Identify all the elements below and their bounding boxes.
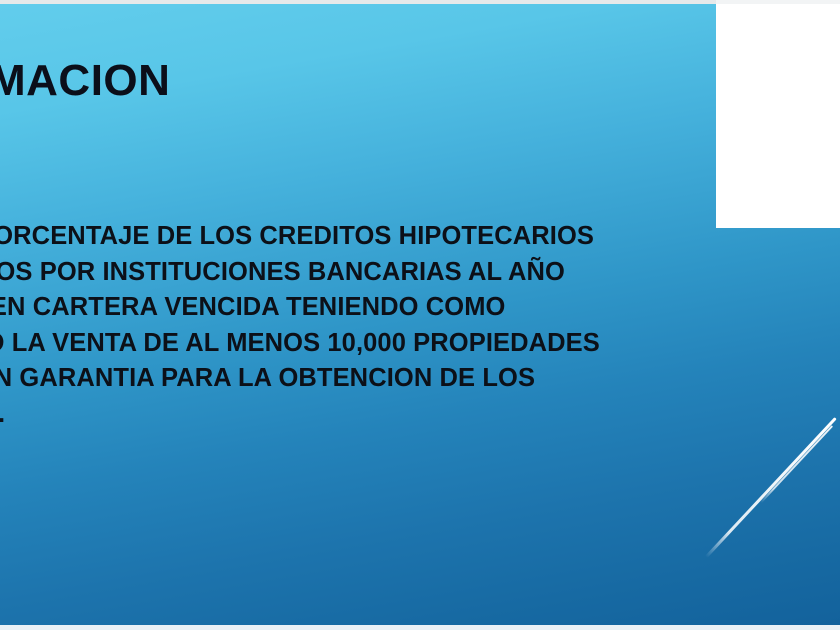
body-line: INAN EN CARTERA VENCIDA TENIENDO COMO	[0, 290, 710, 326]
body-line: LTO PORCENTAJE DE LOS CREDITOS HIPOTECAR…	[0, 219, 710, 255]
slide-body-text: LTO PORCENTAJE DE LOS CREDITOS HIPOTECAR…	[0, 219, 710, 432]
slide-bottom-edge	[0, 625, 840, 630]
logo-panel: B U Homeb	[716, 4, 840, 228]
presentation-slide: ORMACION LTO PORCENTAJE DE LOS CREDITOS …	[0, 0, 840, 630]
body-line: TAS EN GARANTIA PARA LA OBTENCION DE LOS	[0, 361, 710, 397]
body-line: DITOS.	[0, 397, 710, 433]
slide-title: ORMACION	[0, 56, 562, 106]
body-line: LTADO LA VENTA DE AL MENOS 10,000 PROPIE…	[0, 326, 710, 362]
body-line: RGADOS POR INSTITUCIONES BANCARIAS AL AÑ…	[0, 255, 710, 291]
